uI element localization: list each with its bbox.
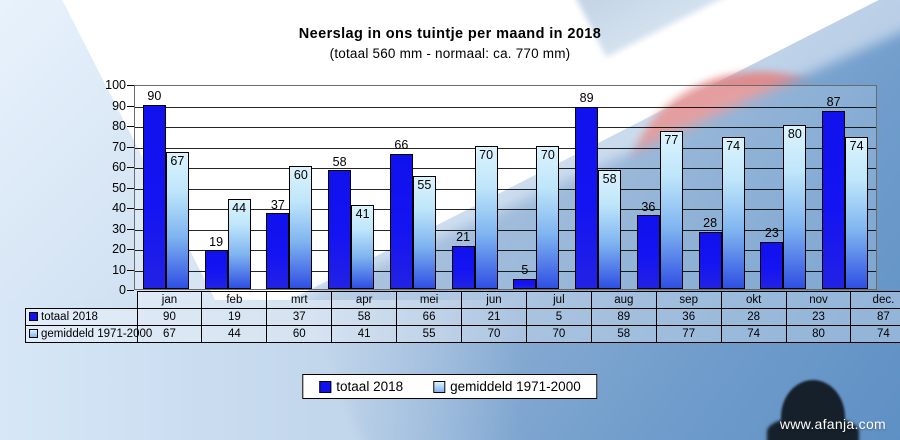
bar-value-label: 90	[147, 90, 161, 103]
bar-value-label: 44	[232, 202, 246, 215]
bar-slot: 87	[822, 86, 845, 289]
table-cell-series2-dec: 74	[851, 326, 900, 343]
table-month-header-jun: jun	[462, 292, 527, 309]
legend-label-series1: totaal 2018	[336, 379, 403, 394]
bar-jul-series1[interactable]: 5	[513, 279, 536, 289]
table-month-header-okt: okt	[721, 292, 786, 309]
bar-group-mrt: 3760	[259, 86, 321, 289]
bar-dec-series1[interactable]: 87	[822, 111, 845, 289]
table-cell-series1-feb: 19	[202, 309, 267, 326]
plot-area: 9067194437605841665521705708958367728742…	[134, 85, 877, 290]
bar-jan-series1[interactable]: 90	[143, 105, 166, 290]
y-tick-label-90: 90	[112, 99, 126, 113]
table-month-header-mrt: mrt	[267, 292, 332, 309]
bar-aug-series1[interactable]: 89	[575, 107, 598, 289]
bar-slot: 19	[205, 86, 228, 289]
bar-slot: 67	[166, 86, 189, 289]
site-watermark-text: www.afanja.com	[780, 416, 886, 432]
table-cell-series1-mrt: 37	[267, 309, 332, 326]
table-cell-series2-jun: 70	[462, 326, 527, 343]
table-month-header-dec: dec.	[851, 292, 900, 309]
table-cell-series2-feb: 44	[202, 326, 267, 343]
bar-value-label: 36	[641, 201, 655, 214]
bar-group-feb: 1944	[197, 86, 259, 289]
bar-value-label: 87	[827, 96, 841, 109]
table-month-header-jul: jul	[526, 292, 591, 309]
bar-sep-series1[interactable]: 36	[637, 215, 660, 289]
bar-slot: 37	[266, 86, 289, 289]
table-cell-series1-mei: 66	[397, 309, 462, 326]
y-tick-mark-50	[127, 188, 134, 189]
y-axis: 0102030405060708090100	[98, 85, 134, 290]
bar-slot: 90	[143, 86, 166, 289]
table-row-series2: gemiddeld 1971-2000 67446041557070587774…	[26, 326, 900, 343]
bar-jan-series2[interactable]: 67	[166, 152, 189, 289]
legend-swatch-series2-icon	[433, 381, 445, 393]
bar-jun-series2[interactable]: 70	[475, 146, 498, 290]
legend-swatch-series1-icon	[319, 381, 331, 393]
bar-mei-series1[interactable]: 66	[390, 154, 413, 289]
y-tick-label-80: 80	[112, 119, 126, 133]
table-cell-series2-okt: 74	[721, 326, 786, 343]
y-tick-label-70: 70	[112, 140, 126, 154]
bar-value-label: 74	[850, 140, 864, 153]
y-tick-mark-80	[127, 126, 134, 127]
bar-okt-series1[interactable]: 28	[699, 232, 722, 289]
bar-slot: 66	[390, 86, 413, 289]
table-cell-series1-apr: 58	[332, 309, 397, 326]
table-month-header-apr: apr	[332, 292, 397, 309]
bar-mei-series2[interactable]: 55	[413, 176, 436, 289]
bar-slot: 70	[475, 86, 498, 289]
y-tick-mark-30	[127, 229, 134, 230]
bar-apr-series2[interactable]: 41	[351, 205, 374, 289]
bar-sep-series2[interactable]: 77	[660, 131, 683, 289]
bar-value-label: 58	[603, 173, 617, 186]
bar-group-jan: 9067	[135, 86, 197, 289]
series1-swatch-icon	[29, 312, 38, 321]
bar-value-label: 5	[521, 264, 528, 277]
table-cell-series1-sep: 36	[656, 309, 721, 326]
bar-mrt-series1[interactable]: 37	[266, 213, 289, 289]
bar-slot: 70	[536, 86, 559, 289]
bar-feb-series1[interactable]: 19	[205, 250, 228, 289]
bar-value-label: 37	[271, 199, 285, 212]
bar-slot: 89	[575, 86, 598, 289]
bar-value-label: 21	[456, 231, 470, 244]
bar-slot: 41	[351, 86, 374, 289]
bar-slot: 55	[413, 86, 436, 289]
series2-label-text: gemiddeld 1971-2000	[41, 328, 152, 340]
bar-group-nov: 2380	[753, 86, 815, 289]
bar-value-label: 74	[726, 140, 740, 153]
bar-group-dec: 8774	[814, 86, 876, 289]
table-row-label-series2: gemiddeld 1971-2000	[26, 326, 138, 343]
y-tick-mark-100	[127, 85, 134, 86]
bar-group-aug: 8958	[567, 86, 629, 289]
chart-legend: totaal 2018 gemiddeld 1971-2000	[302, 374, 597, 399]
table-cell-series2-nov: 80	[786, 326, 851, 343]
legend-item-series2[interactable]: gemiddeld 1971-2000	[433, 379, 581, 394]
bars-layer: 9067194437605841665521705708958367728742…	[135, 86, 876, 289]
data-table: janfebmrtaprmeijunjulaugsepoktnovdec. to…	[25, 291, 900, 343]
y-tick-label-40: 40	[112, 201, 126, 215]
bar-value-label: 19	[209, 236, 223, 249]
bar-jul-series2[interactable]: 70	[536, 146, 559, 290]
series1-label-text: totaal 2018	[41, 311, 98, 323]
bar-value-label: 58	[333, 156, 347, 169]
bar-slot: 36	[637, 86, 660, 289]
bar-slot: 58	[598, 86, 621, 289]
chart-title: Neerslag in ons tuintje per maand in 201…	[0, 26, 900, 42]
y-tick-mark-70	[127, 147, 134, 148]
table-row-series1: totaal 2018 90193758662158936282387	[26, 309, 900, 326]
bar-value-label: 55	[417, 179, 431, 192]
bar-group-apr: 5841	[320, 86, 382, 289]
bar-slot: 74	[845, 86, 868, 289]
series2-swatch-icon	[29, 329, 38, 338]
table-cell-series1-okt: 28	[721, 309, 786, 326]
legend-item-series1[interactable]: totaal 2018	[319, 379, 403, 394]
bar-group-jun: 2170	[444, 86, 506, 289]
table-month-header-mei: mei	[397, 292, 462, 309]
bar-value-label: 89	[580, 92, 594, 105]
y-tick-mark-10	[127, 270, 134, 271]
table-cell-series2-apr: 41	[332, 326, 397, 343]
bar-slot: 28	[699, 86, 722, 289]
table-cell-series2-aug: 58	[591, 326, 656, 343]
bar-group-jul: 570	[506, 86, 568, 289]
bar-value-label: 41	[356, 208, 370, 221]
table-cell-series2-sep: 77	[656, 326, 721, 343]
y-tick-label-60: 60	[112, 160, 126, 174]
table-cell-series1-nov: 23	[786, 309, 851, 326]
table-corner-cell	[26, 292, 138, 309]
bar-okt-series2[interactable]: 74	[722, 137, 745, 289]
y-tick-mark-90	[127, 106, 134, 107]
y-tick-label-10: 10	[112, 263, 126, 277]
bar-nov-series2[interactable]: 80	[783, 125, 806, 289]
table-cell-series1-dec: 87	[851, 309, 900, 326]
table-cell-series1-jan: 90	[137, 309, 202, 326]
table-cell-series2-jul: 70	[526, 326, 591, 343]
bar-slot: 58	[328, 86, 351, 289]
table-month-header-feb: feb	[202, 292, 267, 309]
legend-label-series2: gemiddeld 1971-2000	[450, 379, 581, 394]
table-row-label-series1: totaal 2018	[26, 309, 138, 326]
bar-mrt-series2[interactable]: 60	[289, 166, 312, 289]
bar-dec-series2[interactable]: 74	[845, 137, 868, 289]
table-month-header-aug: aug	[591, 292, 656, 309]
y-tick-mark-60	[127, 167, 134, 168]
y-tick-mark-20	[127, 249, 134, 250]
bar-nov-series1[interactable]: 23	[760, 242, 783, 289]
y-tick-label-30: 30	[112, 222, 126, 236]
bar-value-label: 70	[541, 149, 555, 162]
bar-slot: 60	[289, 86, 312, 289]
table-cell-series2-mrt: 60	[267, 326, 332, 343]
bar-jun-series1[interactable]: 21	[452, 246, 475, 289]
bar-value-label: 28	[703, 217, 717, 230]
chart-subtitle: (totaal 560 mm - normaal: ca. 770 mm)	[0, 46, 900, 61]
bar-value-label: 80	[788, 128, 802, 141]
bar-value-label: 60	[294, 169, 308, 182]
bar-slot: 80	[783, 86, 806, 289]
bar-slot: 5	[513, 86, 536, 289]
table-month-header-jan: jan	[137, 292, 202, 309]
table-cell-series2-mei: 55	[397, 326, 462, 343]
bar-value-label: 77	[664, 134, 678, 147]
table-cell-series1-jun: 21	[462, 309, 527, 326]
table-month-header-sep: sep	[656, 292, 721, 309]
y-tick-label-50: 50	[112, 181, 126, 195]
bar-value-label: 23	[765, 227, 779, 240]
bar-apr-series1[interactable]: 58	[328, 170, 351, 289]
y-tick-mark-40	[127, 208, 134, 209]
bar-value-label: 70	[479, 149, 493, 162]
bar-value-label: 66	[394, 139, 408, 152]
bar-slot: 23	[760, 86, 783, 289]
title-block: Neerslag in ons tuintje per maand in 201…	[0, 26, 900, 61]
table-cell-series1-jul: 5	[526, 309, 591, 326]
bar-feb-series2[interactable]: 44	[228, 199, 251, 289]
bar-group-okt: 2874	[691, 86, 753, 289]
y-tick-label-100: 100	[105, 78, 126, 92]
table-row-months: janfebmrtaprmeijunjulaugsepoktnovdec.	[26, 292, 900, 309]
table-cell-series1-aug: 89	[591, 309, 656, 326]
bar-slot: 74	[722, 86, 745, 289]
y-tick-label-20: 20	[112, 242, 126, 256]
bar-value-label: 67	[170, 155, 184, 168]
table-month-header-nov: nov	[786, 292, 851, 309]
bar-slot: 44	[228, 86, 251, 289]
bar-aug-series2[interactable]: 58	[598, 170, 621, 289]
bar-group-mei: 6655	[382, 86, 444, 289]
bar-group-sep: 3677	[629, 86, 691, 289]
bar-slot: 77	[660, 86, 683, 289]
bar-slot: 21	[452, 86, 475, 289]
